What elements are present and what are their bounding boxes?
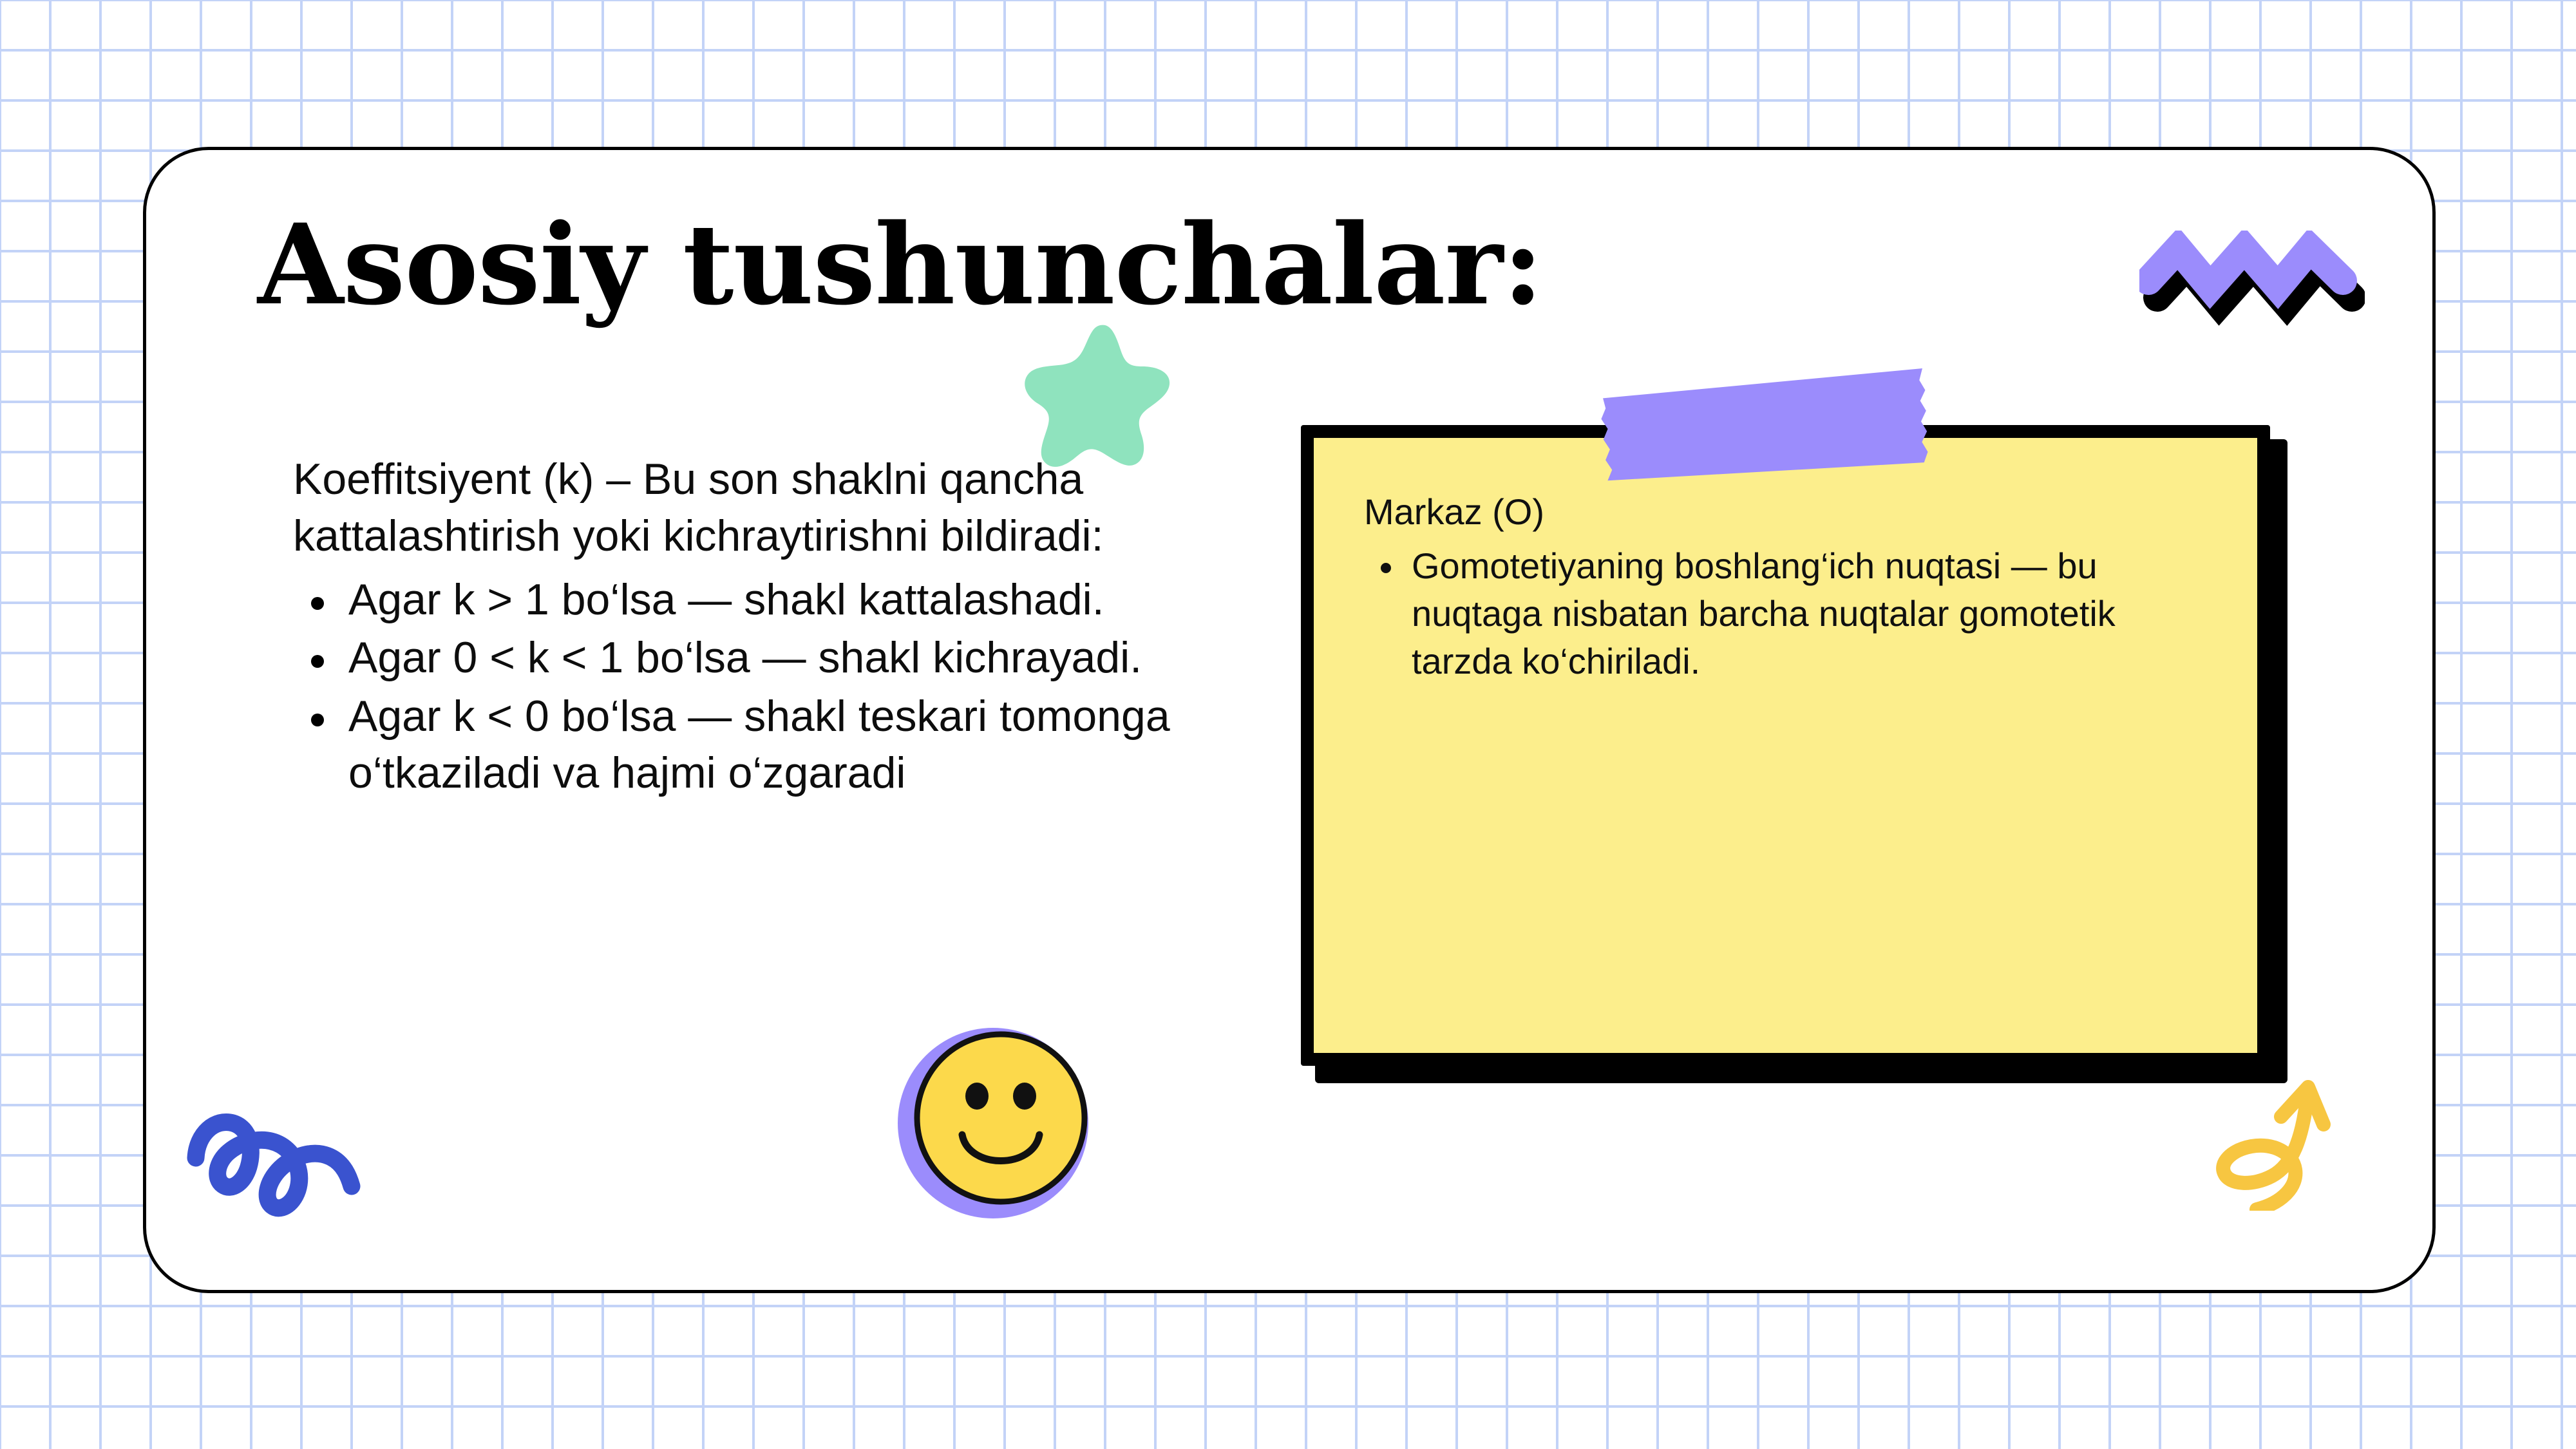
blue-spiral-squiggle-icon (187, 1103, 412, 1231)
slide-canvas: Asosiy tushunchalar: Koeffitsiyent (k) –… (0, 0, 2576, 1449)
sticky-note-bullet-list: Gomotetiyaning boshlang‘ich nuqtasi — bu… (1364, 542, 2221, 685)
page-title: Asosiy tushunchalar: (258, 209, 2125, 320)
list-item: Agar k > 1 bo‘lsa — shakl kattalashadi. (293, 571, 1207, 628)
smiley-face-icon (890, 1012, 1103, 1225)
left-text-column: Koeffitsiyent (k) – Bu son shaklni qanch… (293, 451, 1207, 802)
list-item: Gomotetiyaning boshlang‘ich nuqtasi — bu… (1364, 542, 2221, 685)
list-item: Agar 0 < k < 1 bo‘lsa — shakl kichrayadi… (293, 629, 1207, 686)
purple-zigzag-icon (2139, 231, 2365, 327)
sticky-note-body: Markaz (O) Gomotetiyaning boshlang‘ich n… (1364, 488, 2221, 685)
sticky-note: Markaz (O) Gomotetiyaning boshlang‘ich n… (1301, 425, 2293, 1088)
mint-star-icon (1023, 322, 1177, 470)
sticky-note-surface: Markaz (O) Gomotetiyaning boshlang‘ich n… (1301, 425, 2270, 1066)
list-item: Agar k < 0 bo‘lsa — shakl teskari tomong… (293, 688, 1207, 802)
sticky-note-heading: Markaz (O) (1364, 488, 2221, 536)
yellow-curly-arrow-icon (2197, 1050, 2378, 1211)
coefficient-bullet-list: Agar k > 1 bo‘lsa — shakl kattalashadi. … (293, 571, 1207, 802)
lead-paragraph: Koeffitsiyent (k) – Bu son shaklni qanch… (293, 451, 1207, 565)
